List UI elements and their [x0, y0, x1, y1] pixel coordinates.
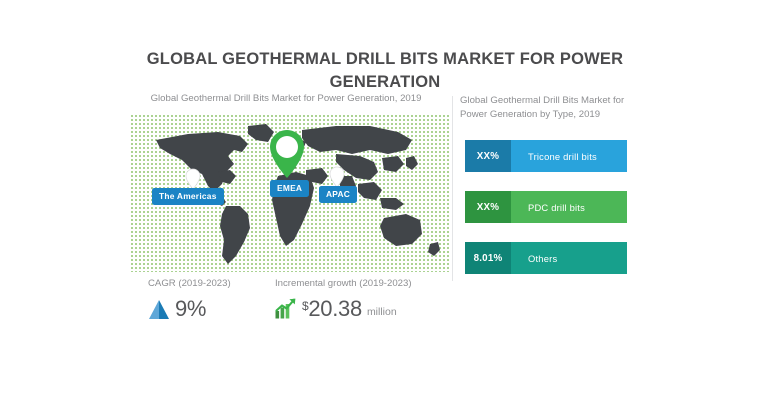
metrics-row: CAGR (2019-2023) 9% Incremental growth (…	[120, 278, 452, 340]
growth-bar-chart-icon	[275, 298, 297, 319]
metric-growth-label: Incremental growth (2019-2023)	[275, 278, 412, 289]
bar-row-tricone[interactable]: XX% Tricone drill bits	[465, 140, 627, 172]
region-badge-apac[interactable]: APAC	[319, 186, 357, 203]
bar-label-pdc: PDC drill bits	[511, 191, 627, 223]
map-pin-apac[interactable]	[330, 167, 344, 187]
infographic-canvas: GLOBAL GEOTHERMAL DRILL BITS MARKET FOR …	[0, 0, 768, 401]
bar-label-tricone: Tricone drill bits	[511, 140, 627, 172]
metric-growth-value: $20.38	[302, 298, 362, 320]
bar-label-others: Others	[511, 242, 627, 274]
metric-incremental-growth: Incremental growth (2019-2023) $20.38 mi…	[275, 278, 412, 320]
type-breakdown-panel: Global Geothermal Drill Bits Market for …	[460, 94, 640, 123]
metric-cagr-label: CAGR (2019-2023)	[148, 278, 231, 289]
map-panel-subtitle: Global Geothermal Drill Bits Market for …	[120, 92, 452, 106]
metric-growth-number: 20.38	[308, 296, 362, 321]
currency-symbol: $	[302, 299, 308, 313]
bar-value-pdc: XX%	[465, 191, 511, 223]
triangle-up-icon	[148, 299, 170, 320]
map-pin-emea[interactable]	[270, 130, 304, 178]
region-badge-emea[interactable]: EMEA	[270, 180, 309, 197]
bar-row-others[interactable]: 8.01% Others	[465, 242, 627, 274]
metric-cagr-value: 9%	[175, 298, 206, 320]
region-badge-americas[interactable]: The Americas	[152, 188, 224, 205]
panel-divider	[452, 96, 453, 281]
metric-cagr: CAGR (2019-2023) 9%	[148, 278, 231, 320]
bar-value-others: 8.01%	[465, 242, 511, 274]
bar-row-pdc[interactable]: XX% PDC drill bits	[465, 191, 627, 223]
metric-growth-unit: million	[367, 306, 397, 320]
world-map: The Americas EMEA APAC	[130, 114, 450, 272]
map-pin-americas[interactable]	[186, 169, 200, 189]
bar-value-tricone: XX%	[465, 140, 511, 172]
type-breakdown-bar-chart: XX% Tricone drill bits XX% PDC drill bit…	[465, 140, 627, 274]
type-breakdown-subtitle: Global Geothermal Drill Bits Market for …	[460, 94, 638, 123]
page-title: GLOBAL GEOTHERMAL DRILL BITS MARKET FOR …	[120, 48, 650, 94]
